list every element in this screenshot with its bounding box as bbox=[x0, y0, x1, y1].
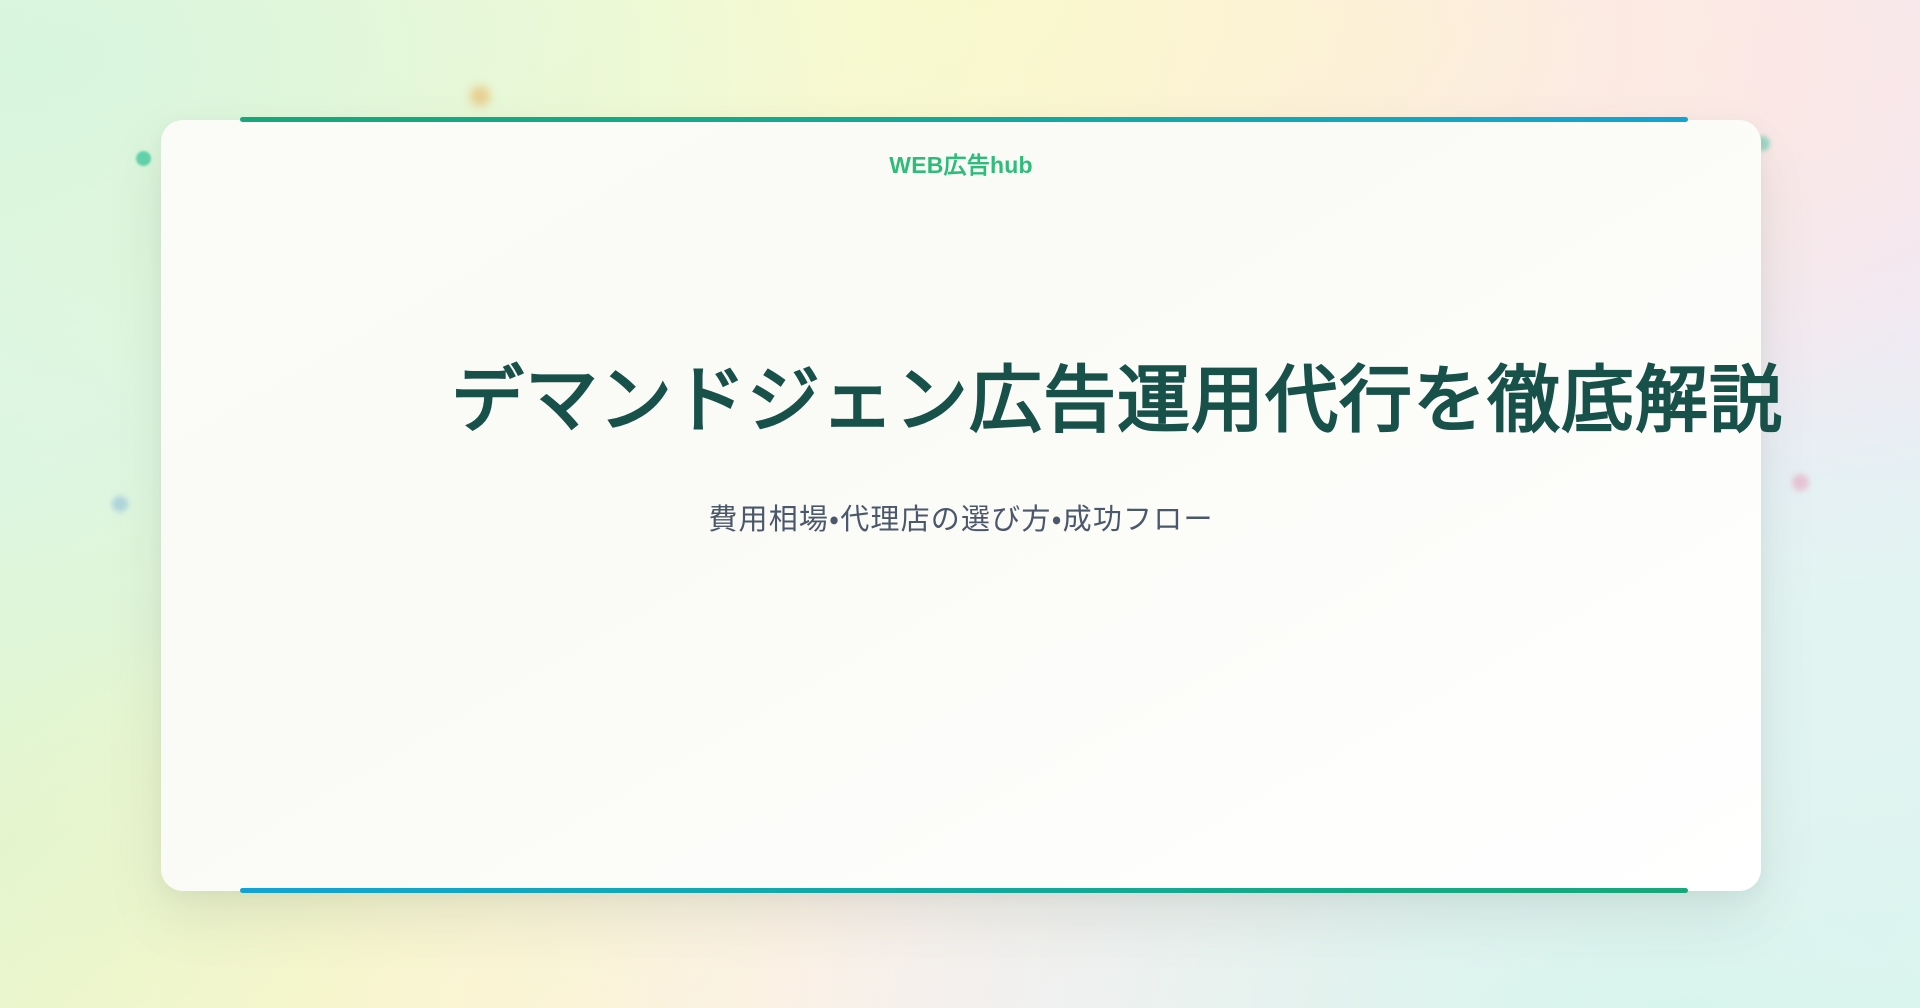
slide-card-content: WEB広告hub デマンドジェン広告運用代行を徹底解説 費用相場・代理店の選び方… bbox=[161, 120, 1761, 891]
page-title: デマンドジェン広告運用代行を徹底解説 bbox=[451, 356, 1471, 445]
page-subtitle: 費用相場・代理店の選び方・成功フロー bbox=[708, 499, 1213, 543]
slide-stage: WEB広告hub デマンドジェン広告運用代行を徹底解説 費用相場・代理店の選び方… bbox=[0, 0, 1920, 1008]
accent-bar-bottom bbox=[240, 888, 1688, 893]
brand-logo: WEB広告hub bbox=[889, 154, 1032, 177]
slide-center-block: デマンドジェン広告運用代行を徹底解説 費用相場・代理店の選び方・成功フロー bbox=[161, 356, 1761, 543]
accent-bar-top bbox=[240, 117, 1688, 122]
slide-card: WEB広告hub デマンドジェン広告運用代行を徹底解説 費用相場・代理店の選び方… bbox=[161, 120, 1761, 891]
